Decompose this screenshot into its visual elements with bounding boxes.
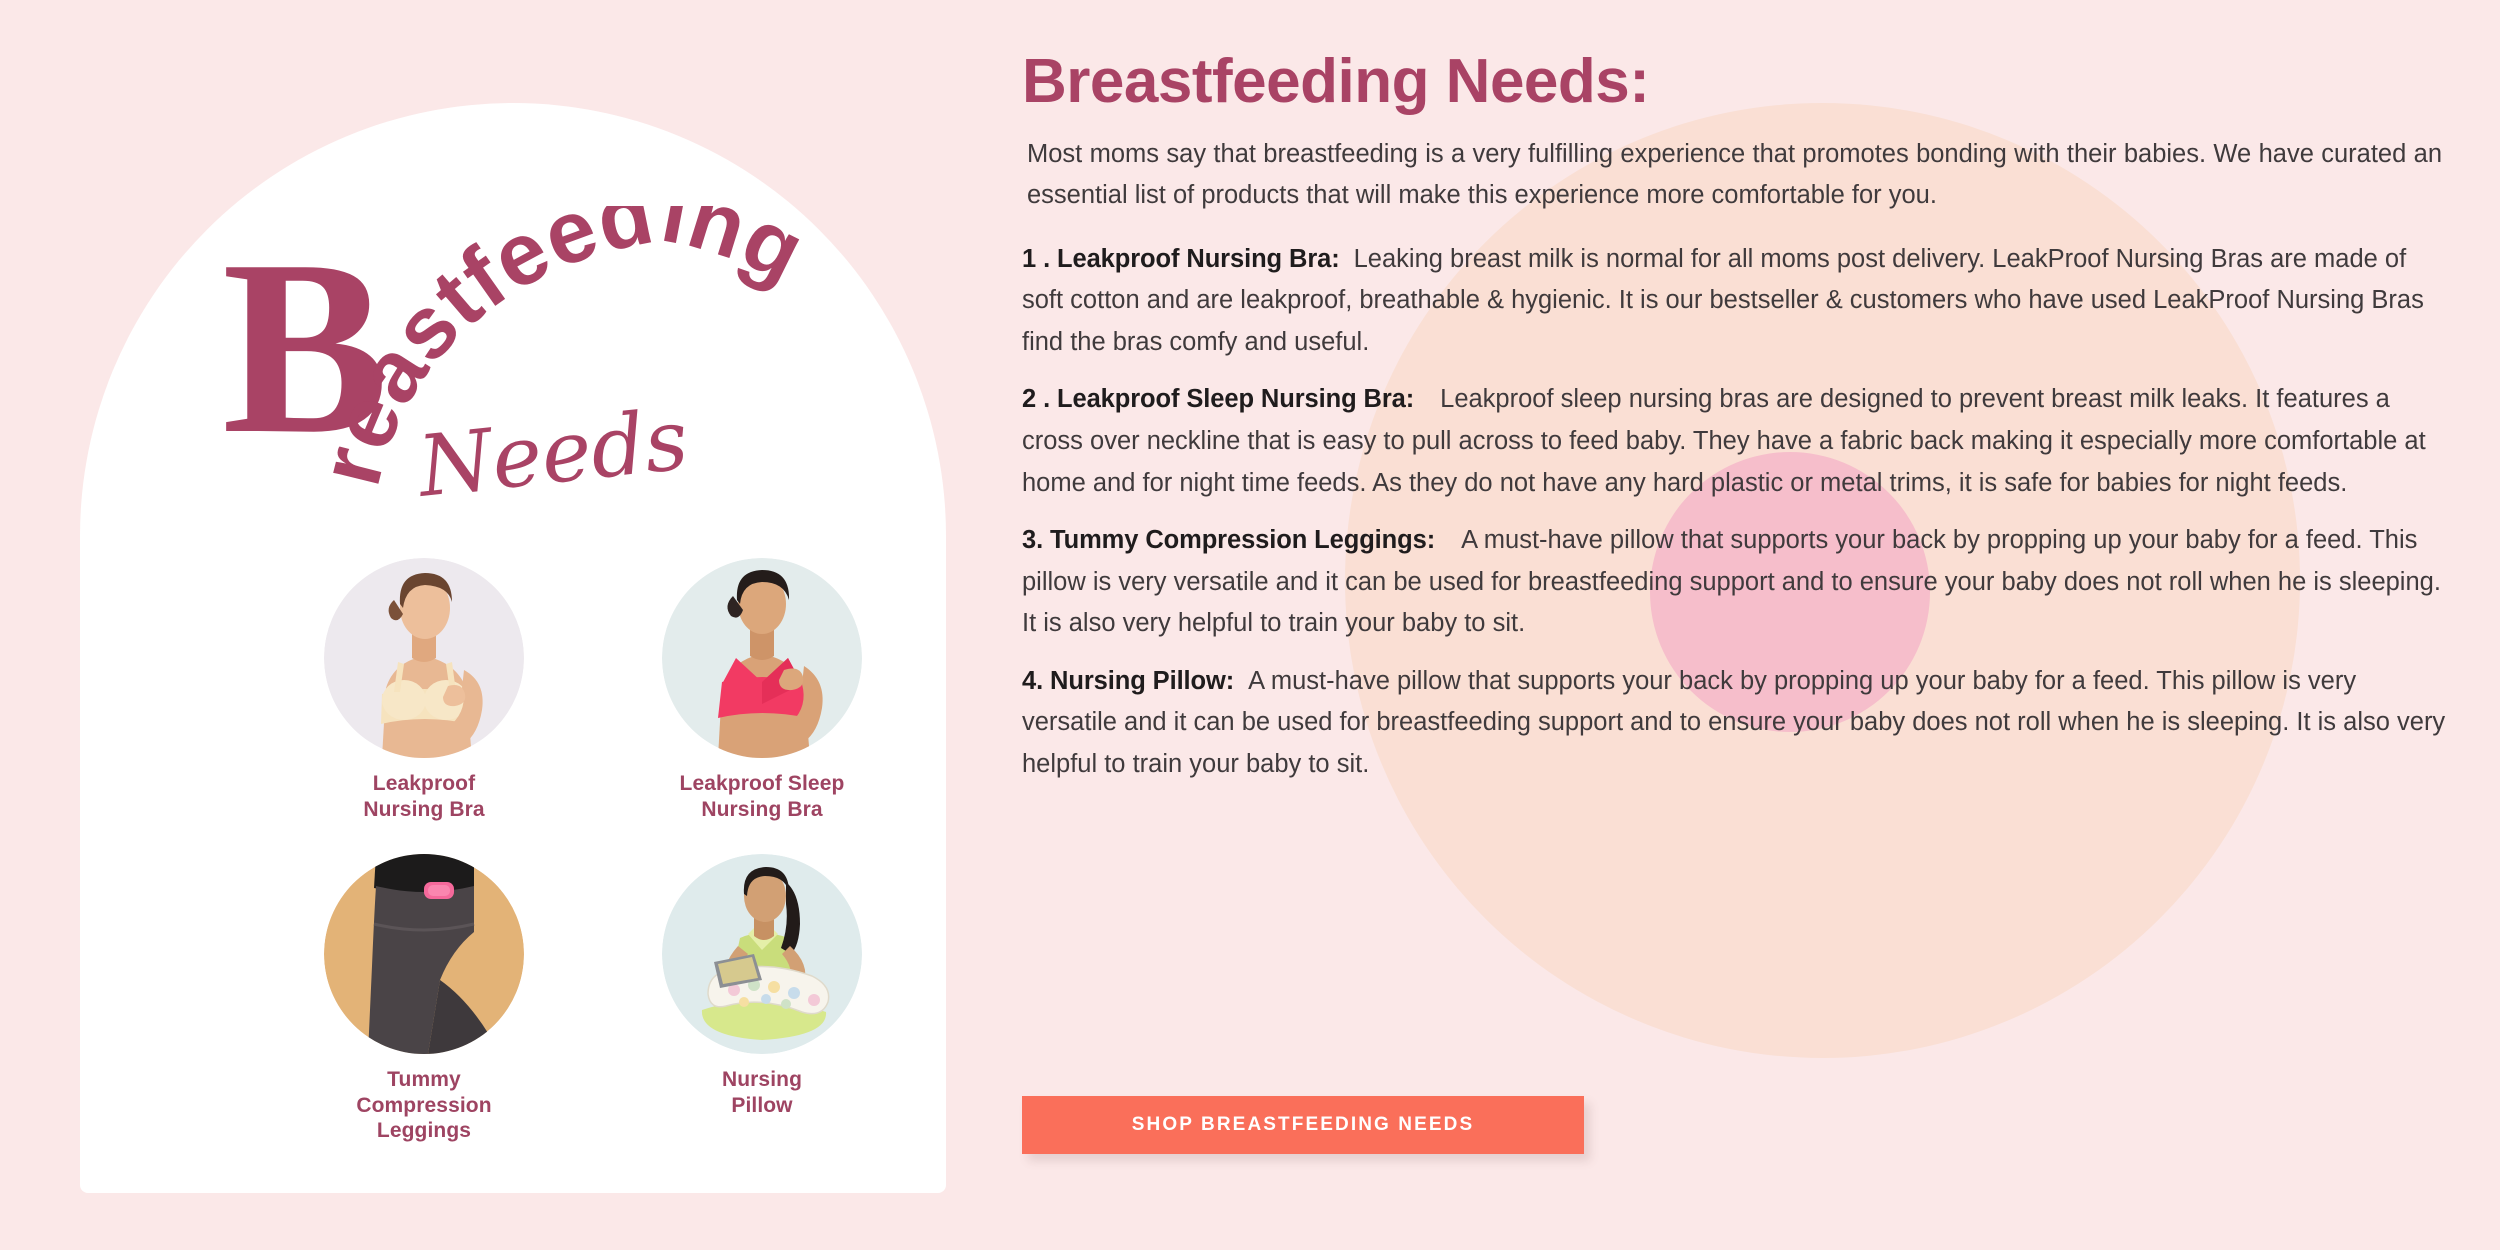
- needs-item-1-lead: 1 . Leakproof Nursing Bra:: [1022, 245, 1340, 273]
- needs-item-3-lead: 3. Tummy Compression Leggings:: [1022, 526, 1435, 554]
- needs-item-1: 1 . Leakproof Nursing Bra:Leaking breast…: [1022, 239, 2452, 364]
- logo-script-needs: Needs: [412, 390, 693, 516]
- product-grid: Leakproof Nursing Bra: [160, 558, 946, 1144]
- product-image-leakproof-nursing-bra[interactable]: [324, 558, 524, 758]
- product-label: Leakproof Nursing Bra: [363, 771, 484, 822]
- product-label: Leakproof Sleep Nursing Bra: [680, 771, 845, 822]
- product-arch-card: B reastfeeding Needs: [80, 103, 946, 1193]
- product-card-leakproof-nursing-bra[interactable]: Leakproof Nursing Bra: [255, 558, 593, 822]
- intro-paragraph: Most moms say that breastfeeding is a ve…: [1022, 134, 2442, 217]
- product-image-tummy-compression-leggings[interactable]: [324, 854, 524, 1054]
- cta-container: SHOP BREASTFEEDING NEEDS: [1022, 1096, 1584, 1154]
- promo-banner: B reastfeeding Needs: [0, 0, 2500, 1250]
- product-image-leakproof-sleep-nursing-bra[interactable]: [662, 558, 862, 758]
- content-column: Breastfeeding Needs: Most moms say that …: [1022, 48, 2452, 802]
- product-card-tummy-compression-leggings[interactable]: Tummy Compression Leggings: [255, 854, 593, 1144]
- product-image-nursing-pillow[interactable]: [662, 854, 862, 1054]
- product-card-leakproof-sleep-nursing-bra[interactable]: Leakproof Sleep Nursing Bra: [593, 558, 931, 822]
- product-label: Tummy Compression Leggings: [356, 1067, 491, 1144]
- product-card-nursing-pillow[interactable]: Nursing Pillow: [593, 854, 931, 1144]
- needs-item-4-lead: 4. Nursing Pillow:: [1022, 667, 1234, 695]
- shop-breastfeeding-needs-button[interactable]: SHOP BREASTFEEDING NEEDS: [1022, 1096, 1584, 1154]
- needs-item-2-lead: 2 . Leakproof Sleep Nursing Bra:: [1022, 385, 1414, 413]
- needs-item-4: 4. Nursing Pillow:A must-have pillow tha…: [1022, 661, 2452, 786]
- needs-item-4-body: A must-have pillow that supports your ba…: [1022, 667, 2445, 778]
- page-title: Breastfeeding Needs:: [1022, 48, 2452, 116]
- needs-item-2: 2 . Leakproof Sleep Nursing Bra:Leakproo…: [1022, 379, 2452, 504]
- needs-item-3: 3. Tummy Compression Leggings:A must-hav…: [1022, 520, 2452, 645]
- product-label: Nursing Pillow: [722, 1067, 802, 1118]
